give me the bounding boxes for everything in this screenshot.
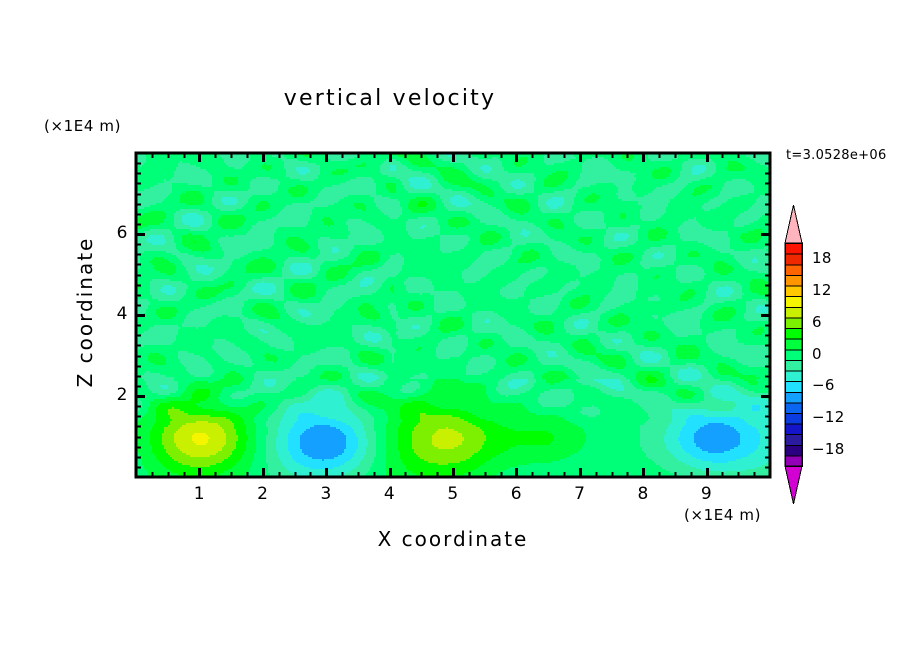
x-tick-label: 1	[184, 484, 214, 504]
colorbar-tick-label: −6	[812, 376, 835, 394]
y-tick-label: 6	[98, 223, 128, 243]
contour-field	[0, 0, 904, 654]
y-tick-label: 4	[98, 304, 128, 324]
x-tick-label: 2	[248, 484, 278, 504]
colorbar-tick-label: 12	[812, 281, 832, 299]
x-tick-label: 3	[311, 484, 341, 504]
x-tick-label: 4	[375, 484, 405, 504]
colorbar-tick-label: −18	[812, 440, 845, 458]
colorbar-tick-label: 18	[812, 249, 832, 267]
x-tick-label: 6	[501, 484, 531, 504]
colorbar-tick-label: 6	[812, 313, 822, 331]
x-tick-label: 5	[438, 484, 468, 504]
y-tick-label: 2	[98, 385, 128, 405]
x-tick-label: 8	[628, 484, 658, 504]
x-tick-label: 9	[692, 484, 722, 504]
colorbar-tick-label: −12	[812, 408, 845, 426]
colorbar-tick-label: 0	[812, 345, 822, 363]
plot-canvas: vertical velocity (×1E4 m) (×1E4 m) X co…	[0, 0, 904, 654]
x-tick-label: 7	[565, 484, 595, 504]
